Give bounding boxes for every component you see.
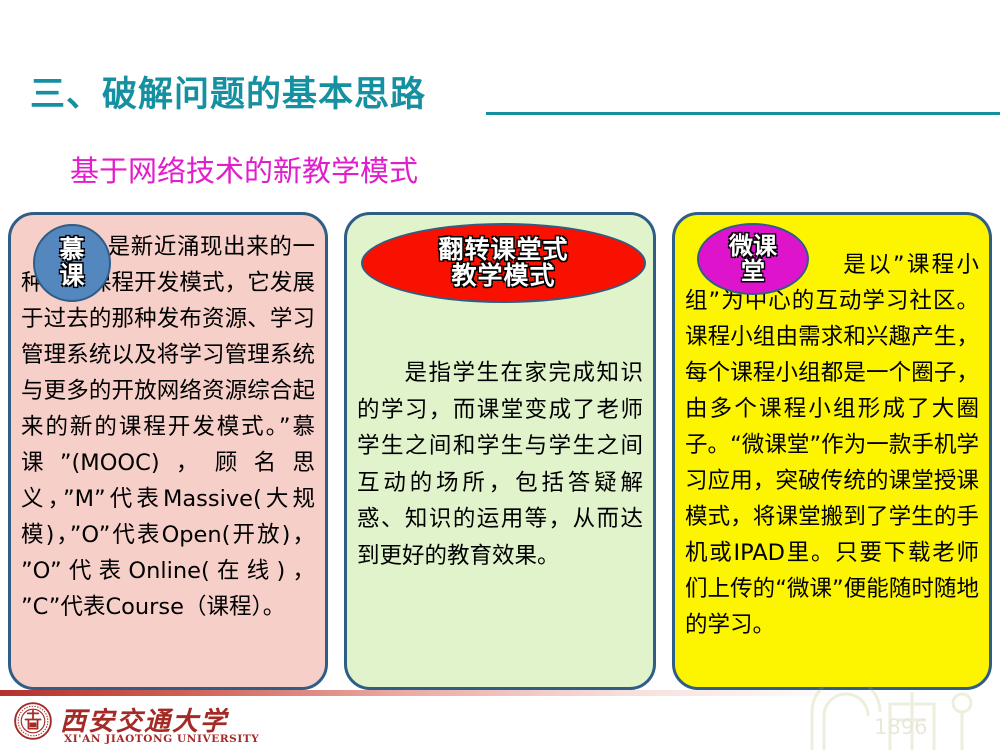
badge-microclass-line2: 堂 [729, 259, 777, 284]
watermark-year: 1896 [874, 715, 927, 739]
badge-flipped-classroom-line1: 翻转课堂式 [438, 237, 568, 263]
badge-flipped-classroom-labels: 翻转课堂式 教学模式 [438, 237, 568, 290]
title-underline-rule [486, 112, 1000, 115]
background-watermark: 1896 [802, 686, 982, 750]
panel-flipped-classroom: 是指学生在家完成知识的学习，而课堂变成了老师学生之间和学生与学生之间互动的场所，… [344, 212, 656, 690]
badge-mooc-line2: 课 [59, 263, 84, 289]
badge-microclass: 微课 堂 [697, 223, 809, 295]
panel-flipped-classroom-text: 是指学生在家完成知识的学习，而课堂变成了老师学生之间和学生与学生之间互动的场所，… [357, 360, 643, 569]
slide-title-row: 三、破解问题的基本思路 [0, 74, 1000, 122]
page-subtitle: 基于网络技术的新教学模式 [70, 152, 418, 190]
badge-microclass-line1: 微课 [729, 234, 777, 259]
badge-microclass-labels: 微课 堂 [729, 234, 777, 284]
badge-mooc: 慕 课 [33, 224, 111, 302]
panel-microclass-text: 是以”课程小组”为中心的互动学习社区。课程小组由需求和兴趣产生，每个课程小组都是… [685, 252, 979, 638]
badge-mooc-line1: 慕 [59, 237, 84, 263]
university-seal-icon [14, 702, 52, 740]
panel-mooc: 是新近涌现出来的一种在线课程开发模式，它发展于过去的那种发布资源、学习管理系统以… [8, 212, 328, 690]
watermark-seal-icon: 1896 [802, 686, 982, 750]
slide-canvas: 三、破解问题的基本思路 基于网络技术的新教学模式 是新近涌现出来的一种在线课程开… [0, 0, 1000, 750]
badge-mooc-labels: 慕 课 [59, 237, 84, 290]
page-title: 三、破解问题的基本思路 [30, 74, 426, 116]
university-logo: 西安交通大学 XI'AN JIAOTONG UNIVERSITY [14, 700, 314, 748]
panel-group: 是新近涌现出来的一种在线课程开发模式，它发展于过去的那种发布资源、学习管理系统以… [0, 212, 1000, 690]
university-name-en: XI'AN JIAOTONG UNIVERSITY [64, 733, 259, 745]
badge-flipped-classroom: 翻转课堂式 教学模式 [361, 223, 646, 303]
badge-flipped-classroom-line2: 教学模式 [438, 263, 568, 289]
panel-microclass: 是以”课程小组”为中心的互动学习社区。课程小组由需求和兴趣产生，每个课程小组都是… [672, 212, 992, 690]
